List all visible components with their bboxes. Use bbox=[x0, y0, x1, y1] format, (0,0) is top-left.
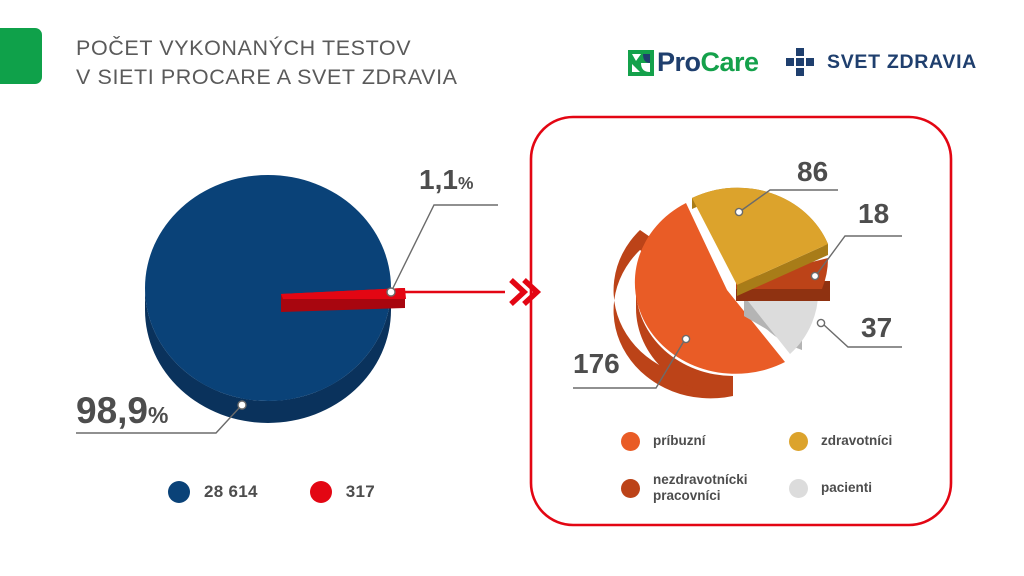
legend-label-nezdravotnicki-pracovnici: nezdravotnícki pracovníci bbox=[653, 472, 748, 505]
legend-item-nezdravotnicki-pracovnici[interactable]: nezdravotnícki pracovníci bbox=[621, 472, 789, 505]
legend-item-pribuzni[interactable]: príbuzní bbox=[621, 432, 789, 451]
overview-pie-legend: 28 614 317 bbox=[168, 481, 375, 503]
overview-pie-label-98-9: 98,9% bbox=[76, 392, 168, 429]
legend-label-28614: 28 614 bbox=[204, 482, 258, 502]
legend-swatch-brown bbox=[621, 479, 640, 498]
overview-pie-label-1-1: 1,1% bbox=[419, 166, 473, 194]
legend-label-pacienti: pacienti bbox=[821, 480, 872, 496]
legend-item-28614[interactable]: 28 614 bbox=[168, 481, 258, 503]
detail-pie-label-86: 86 bbox=[797, 158, 828, 186]
legend-swatch-blue bbox=[168, 481, 190, 503]
detail-pie-label-176: 176 bbox=[573, 350, 620, 378]
detail-pie-label-18: 18 bbox=[858, 200, 889, 228]
legend-swatch-gold bbox=[789, 432, 808, 451]
legend-label-317: 317 bbox=[346, 482, 375, 502]
double-chevron-right-icon bbox=[511, 280, 537, 304]
legend-item-zdravotnici[interactable]: zdravotníci bbox=[789, 432, 939, 451]
legend-swatch-grey bbox=[789, 479, 808, 498]
legend-label-pribuzni: príbuzní bbox=[653, 433, 706, 449]
detail-pie-chart bbox=[614, 188, 830, 399]
infographic-root: POČET VYKONANÝCH TESTOV V SIETI PROCARE … bbox=[0, 0, 1024, 576]
legend-item-317[interactable]: 317 bbox=[310, 481, 375, 503]
overview-pie-slice-28614 bbox=[145, 175, 391, 401]
legend-label-zdravotnici: zdravotníci bbox=[821, 433, 892, 449]
overview-pie-chart bbox=[145, 175, 406, 423]
legend-item-pacienti[interactable]: pacienti bbox=[789, 472, 939, 505]
detail-pie-label-37: 37 bbox=[861, 314, 892, 342]
legend-swatch-orange bbox=[621, 432, 640, 451]
detail-pie-legend: príbuzní zdravotníci nezdravotnícki prac… bbox=[621, 432, 941, 505]
legend-swatch-red bbox=[310, 481, 332, 503]
